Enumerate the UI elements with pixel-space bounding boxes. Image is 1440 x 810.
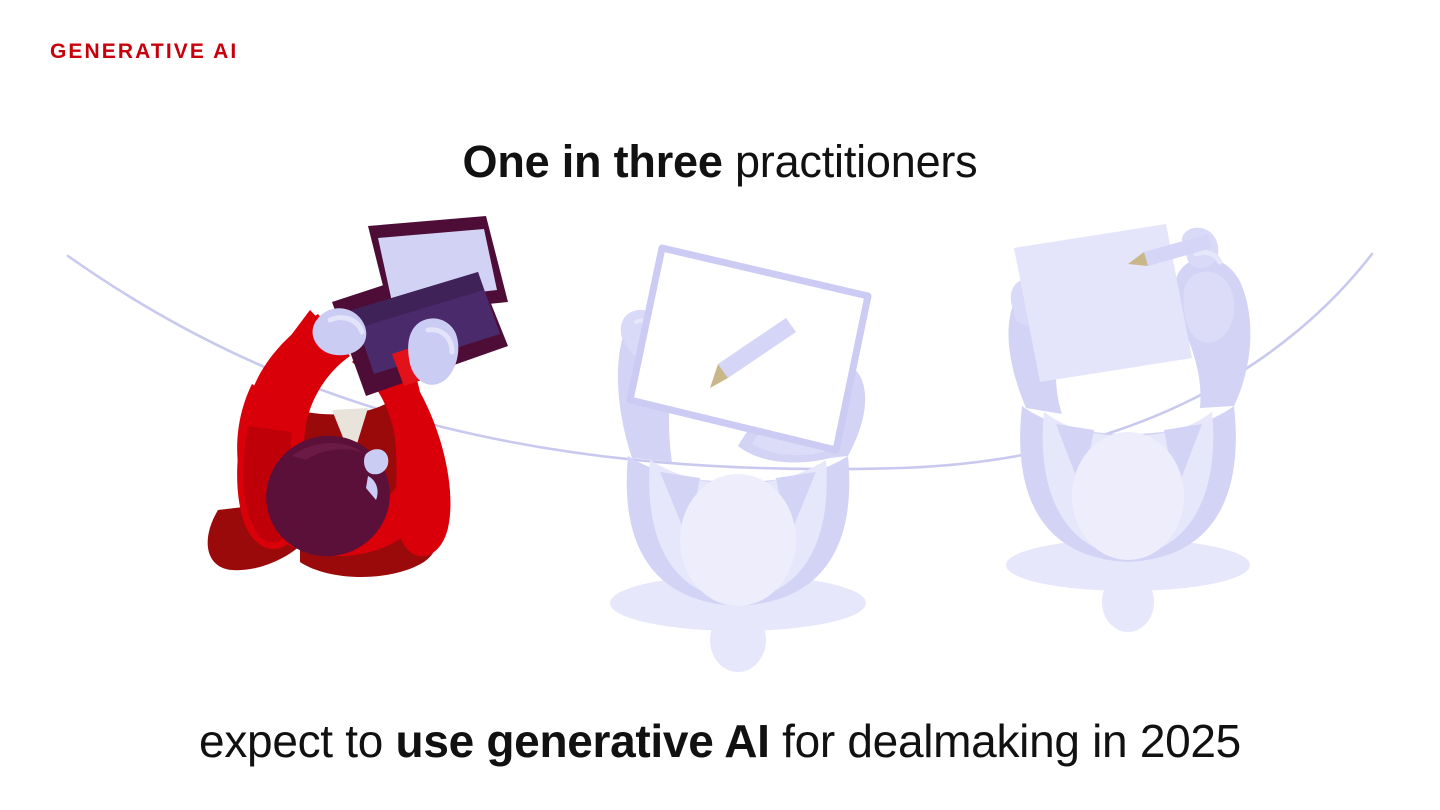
caption-emphasis: use generative AI	[396, 715, 770, 767]
page-title: One in three practitioners	[0, 137, 1440, 187]
figure-right-hand	[408, 318, 458, 384]
caption-after: for dealmaking in 2025	[770, 715, 1241, 767]
section-kicker: GENERATIVE AI	[50, 41, 238, 62]
highlighted-figure-laptop	[208, 216, 508, 577]
headline-rest: practitioners	[723, 136, 978, 187]
page-caption: expect to use generative AI for dealmaki…	[0, 716, 1440, 767]
ghost-figure-paper	[1006, 224, 1250, 632]
infographic-canvas: GENERATIVE AI One in three practitioners	[0, 0, 1440, 810]
three-practitioners-illustration	[0, 210, 1440, 700]
caption-before: expect to	[199, 715, 395, 767]
headline-emphasis: One in three	[463, 136, 723, 187]
